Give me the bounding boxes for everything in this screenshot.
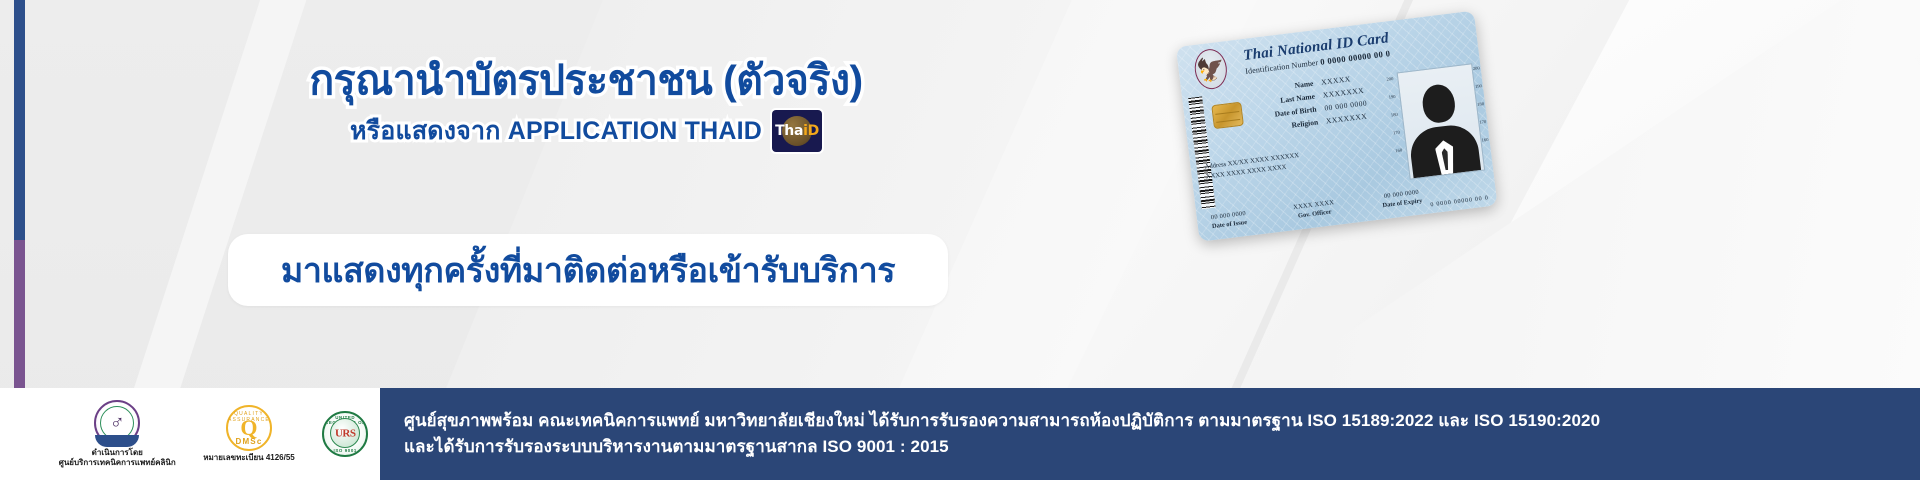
garuda-glyph: 🦅 <box>1195 57 1226 83</box>
footer-accreditation-bar: ศูนย์สุขภาพพร้อม คณะเทคนิคการแพทย์ มหาวิ… <box>380 388 1920 480</box>
ruler-tick: 160 <box>1395 149 1402 154</box>
call-to-action-text: มาแสดงทุกครั้งที่มาติดต่อหรือเข้ารับบริก… <box>281 243 895 297</box>
accreditation-logos: ♂ ดำเนินการโดย ศูนย์บริการเทคนิคการแพทย์… <box>47 388 380 480</box>
footer-accreditation-text: ศูนย์สุขภาพพร้อม คณะเทคนิคการแพทย์ มหาวิ… <box>404 408 1600 461</box>
dmsc-center-mark: Q <box>240 417 257 439</box>
urs-iso9001-seal-icon: UNITED REGISTRAR OF SYSTEMS URS ISO 9001 <box>322 411 368 457</box>
ruler-tick: 200 <box>1386 77 1393 82</box>
thaid-text-accent: iD <box>803 123 819 139</box>
edge-stripe-purple <box>14 240 25 388</box>
call-to-action-pill: มาแสดงทุกครั้งที่มาติดต่อหรือเข้ารับบริก… <box>228 234 948 306</box>
card-photo-placeholder <box>1397 63 1486 179</box>
banner-subheadline: หรือแสดงจาก APPLICATION THAID <box>350 111 762 151</box>
footer-text-line1: ศูนย์สุขภาพพร้อม คณะเทคนิคการแพทย์ มหาวิ… <box>404 408 1600 434</box>
thaid-logo-text: ThaiD <box>775 123 819 139</box>
dmsc-caption-line1: หมายเลขทะเบียน 4126/55 <box>203 453 295 463</box>
logo-item-dmsc: QUALITY ASSURANCE Q DMSc หมายเลขทะเบียน … <box>203 405 295 463</box>
ruler-tick: 160 <box>1481 138 1488 143</box>
urs-arc-bottom: ISO 9001 <box>324 448 366 453</box>
ruler-tick: 170 <box>1393 131 1400 136</box>
photo-head-shape <box>1421 83 1457 125</box>
clinic-seal-ribbon <box>95 435 139 447</box>
clinic-logo-caption: ดำเนินการโดย ศูนย์บริการเทคนิคการแพทย์คล… <box>59 448 176 468</box>
logo-item-clinic: ♂ ดำเนินการโดย ศูนย์บริการเทคนิคการแพทย์… <box>59 400 176 468</box>
ruler-tick: 190 <box>1475 84 1482 89</box>
footer-text-line2: และได้รับการรับรองระบบบริหารงานตามมาตรฐา… <box>404 434 1600 460</box>
urs-center-mark: URS <box>335 429 356 440</box>
dmsc-quality-seal-icon: QUALITY ASSURANCE Q DMSc <box>226 405 272 451</box>
edge-stripe-blue <box>14 0 25 240</box>
id-card: 🦅 Thai National ID Card Identification N… <box>1176 11 1498 242</box>
ruler-tick: 200 <box>1473 66 1480 71</box>
subheadline-row: หรือแสดงจาก APPLICATION THAID ThaiD <box>226 110 946 152</box>
dmsc-logo-caption: หมายเลขทะเบียน 4126/55 <box>203 453 295 463</box>
thai-national-id-card-illustration: 🦅 Thai National ID Card Identification N… <box>1176 11 1504 296</box>
thaid-app-logo[interactable]: ThaiD <box>772 110 822 152</box>
clinic-caption-line2: ศูนย์บริการเทคนิคการแพทย์คลินิก <box>59 458 176 468</box>
logo-item-urs: UNITED REGISTRAR OF SYSTEMS URS ISO 9001 <box>322 411 368 457</box>
id-card-notice-banner: กรุณานำบัตรประชาชน (ตัวจริง) หรือแสดงจาก… <box>0 0 1920 480</box>
ruler-tick: 180 <box>1391 113 1398 118</box>
ruler-tick: 190 <box>1388 95 1395 100</box>
banner-headline: กรุณานำบัตรประชาชน (ตัวจริง) <box>226 58 946 104</box>
banner-footer: ♂ ดำเนินการโดย ศูนย์บริการเทคนิคการแพทย์… <box>0 388 1920 480</box>
ruler-tick: 170 <box>1479 120 1486 125</box>
headline-block: กรุณานำบัตรประชาชน (ตัวจริง) หรือแสดงจาก… <box>226 58 946 152</box>
ruler-tick: 180 <box>1477 102 1484 107</box>
clinic-seal-icon: ♂ <box>94 400 140 446</box>
dmsc-arc-bottom: DMSc <box>228 437 270 446</box>
smart-chip-icon <box>1211 102 1244 129</box>
clinic-caption-line1: ดำเนินการโดย <box>59 448 176 458</box>
clinic-seal-figure: ♂ <box>110 413 125 433</box>
thaid-text-light: Tha <box>775 123 803 139</box>
